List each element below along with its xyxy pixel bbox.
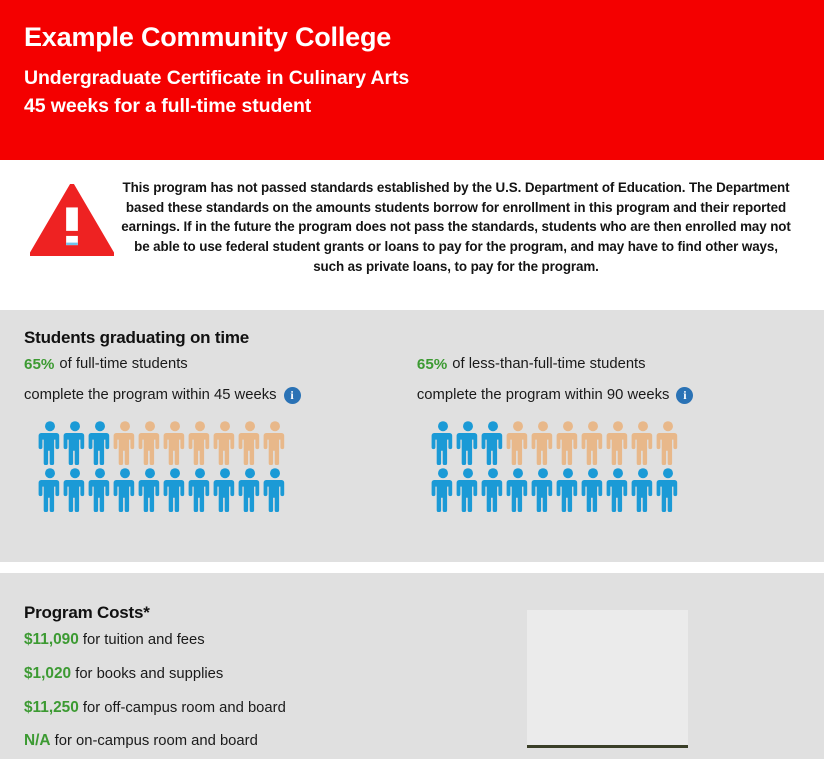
- person-icon: [506, 467, 530, 512]
- graduation-detail-less-than-full-time: complete the program within 90 weeks: [417, 388, 670, 403]
- graduation-percent-full-time: 65%: [24, 357, 54, 372]
- graduation-detail-line-1: complete the program within 45 weeks: [24, 387, 412, 404]
- cost-label-tuition: for tuition and fees: [83, 632, 205, 648]
- cost-amount-off-campus: $11,250: [24, 699, 79, 716]
- person-icon: [606, 420, 630, 465]
- info-icon[interactable]: [676, 387, 693, 404]
- person-icon: [456, 467, 480, 512]
- person-icon: [556, 420, 580, 465]
- person-icon: [188, 420, 212, 465]
- person-icon: [431, 467, 455, 512]
- cost-amount-tuition: $11,090: [24, 631, 79, 648]
- person-icon: [631, 467, 655, 512]
- person-icon: [213, 420, 237, 465]
- pictogram-full-time: [38, 420, 412, 512]
- person-icon: [163, 420, 187, 465]
- person-icon: [556, 467, 580, 512]
- person-icon: [656, 467, 680, 512]
- warning-banner: This program has not passed standards es…: [0, 160, 824, 310]
- warning-message: This program has not passed standards es…: [114, 176, 800, 277]
- cost-label-books: for books and supplies: [75, 666, 223, 682]
- program-name: Undergraduate Certificate in Culinary Ar…: [24, 65, 800, 93]
- person-icon: [481, 467, 505, 512]
- graduation-audience-less-than-full-time: of less-than-full-time students: [452, 357, 645, 372]
- institution-title: Example Community College: [24, 22, 800, 53]
- graduation-rate-line-2: 65% of less-than-full-time students: [417, 357, 800, 372]
- person-icon: [631, 420, 655, 465]
- cost-amount-on-campus: N/A: [24, 732, 51, 749]
- graduation-panel: Students graduating on time 65% of full-…: [0, 310, 824, 562]
- graduation-columns: 65% of full-time students complete the p…: [24, 357, 800, 514]
- program-duration: 45 weeks for a full-time student: [24, 93, 800, 121]
- person-icon: [63, 420, 87, 465]
- person-icon: [506, 420, 530, 465]
- person-icon: [581, 467, 605, 512]
- person-icon: [138, 420, 162, 465]
- cost-label-on-campus: for on-campus room and board: [55, 733, 258, 749]
- pictogram-row: [431, 467, 800, 512]
- pictogram-row: [38, 420, 412, 465]
- person-icon: [238, 420, 262, 465]
- person-icon: [63, 467, 87, 512]
- person-icon: [113, 467, 137, 512]
- person-icon: [163, 467, 187, 512]
- person-icon: [606, 467, 630, 512]
- info-icon[interactable]: [284, 387, 301, 404]
- pictogram-row: [431, 420, 800, 465]
- pictogram-row: [38, 467, 412, 512]
- person-icon: [38, 420, 62, 465]
- person-icon: [456, 420, 480, 465]
- graduation-heading: Students graduating on time: [24, 328, 800, 348]
- cost-label-off-campus: for off-campus room and board: [83, 700, 286, 716]
- person-icon: [531, 467, 555, 512]
- person-icon: [581, 420, 605, 465]
- person-icon: [238, 467, 262, 512]
- graduation-audience-full-time: of full-time students: [59, 357, 187, 372]
- person-icon: [88, 467, 112, 512]
- person-icon: [138, 467, 162, 512]
- graduation-detail-full-time: complete the program within 45 weeks: [24, 388, 277, 403]
- pictogram-less-than-full-time: [431, 420, 800, 512]
- person-icon: [263, 420, 287, 465]
- graduation-percent-less-than-full-time: 65%: [417, 357, 447, 372]
- graduation-column-less-than-full-time: 65% of less-than-full-time students comp…: [412, 357, 800, 514]
- person-icon: [113, 420, 137, 465]
- panel-divider: [0, 562, 824, 573]
- program-costs-panel: Program Costs* $11,090 for tuition and f…: [0, 573, 824, 759]
- person-icon: [656, 420, 680, 465]
- person-icon: [263, 467, 287, 512]
- page-header: Example Community College Undergraduate …: [0, 0, 824, 160]
- cost-amount-books: $1,020: [24, 665, 71, 682]
- graduation-detail-line-2: complete the program within 90 weeks: [417, 387, 800, 404]
- program-costs-chart-area: [527, 610, 688, 746]
- person-icon: [213, 467, 237, 512]
- person-icon: [431, 420, 455, 465]
- program-costs-chart-axis: [527, 745, 688, 748]
- graduation-column-full-time: 65% of full-time students complete the p…: [24, 357, 412, 514]
- warning-triangle-icon: [30, 184, 114, 261]
- person-icon: [38, 467, 62, 512]
- person-icon: [188, 467, 212, 512]
- person-icon: [88, 420, 112, 465]
- graduation-rate-line-1: 65% of full-time students: [24, 357, 412, 372]
- person-icon: [531, 420, 555, 465]
- person-icon: [481, 420, 505, 465]
